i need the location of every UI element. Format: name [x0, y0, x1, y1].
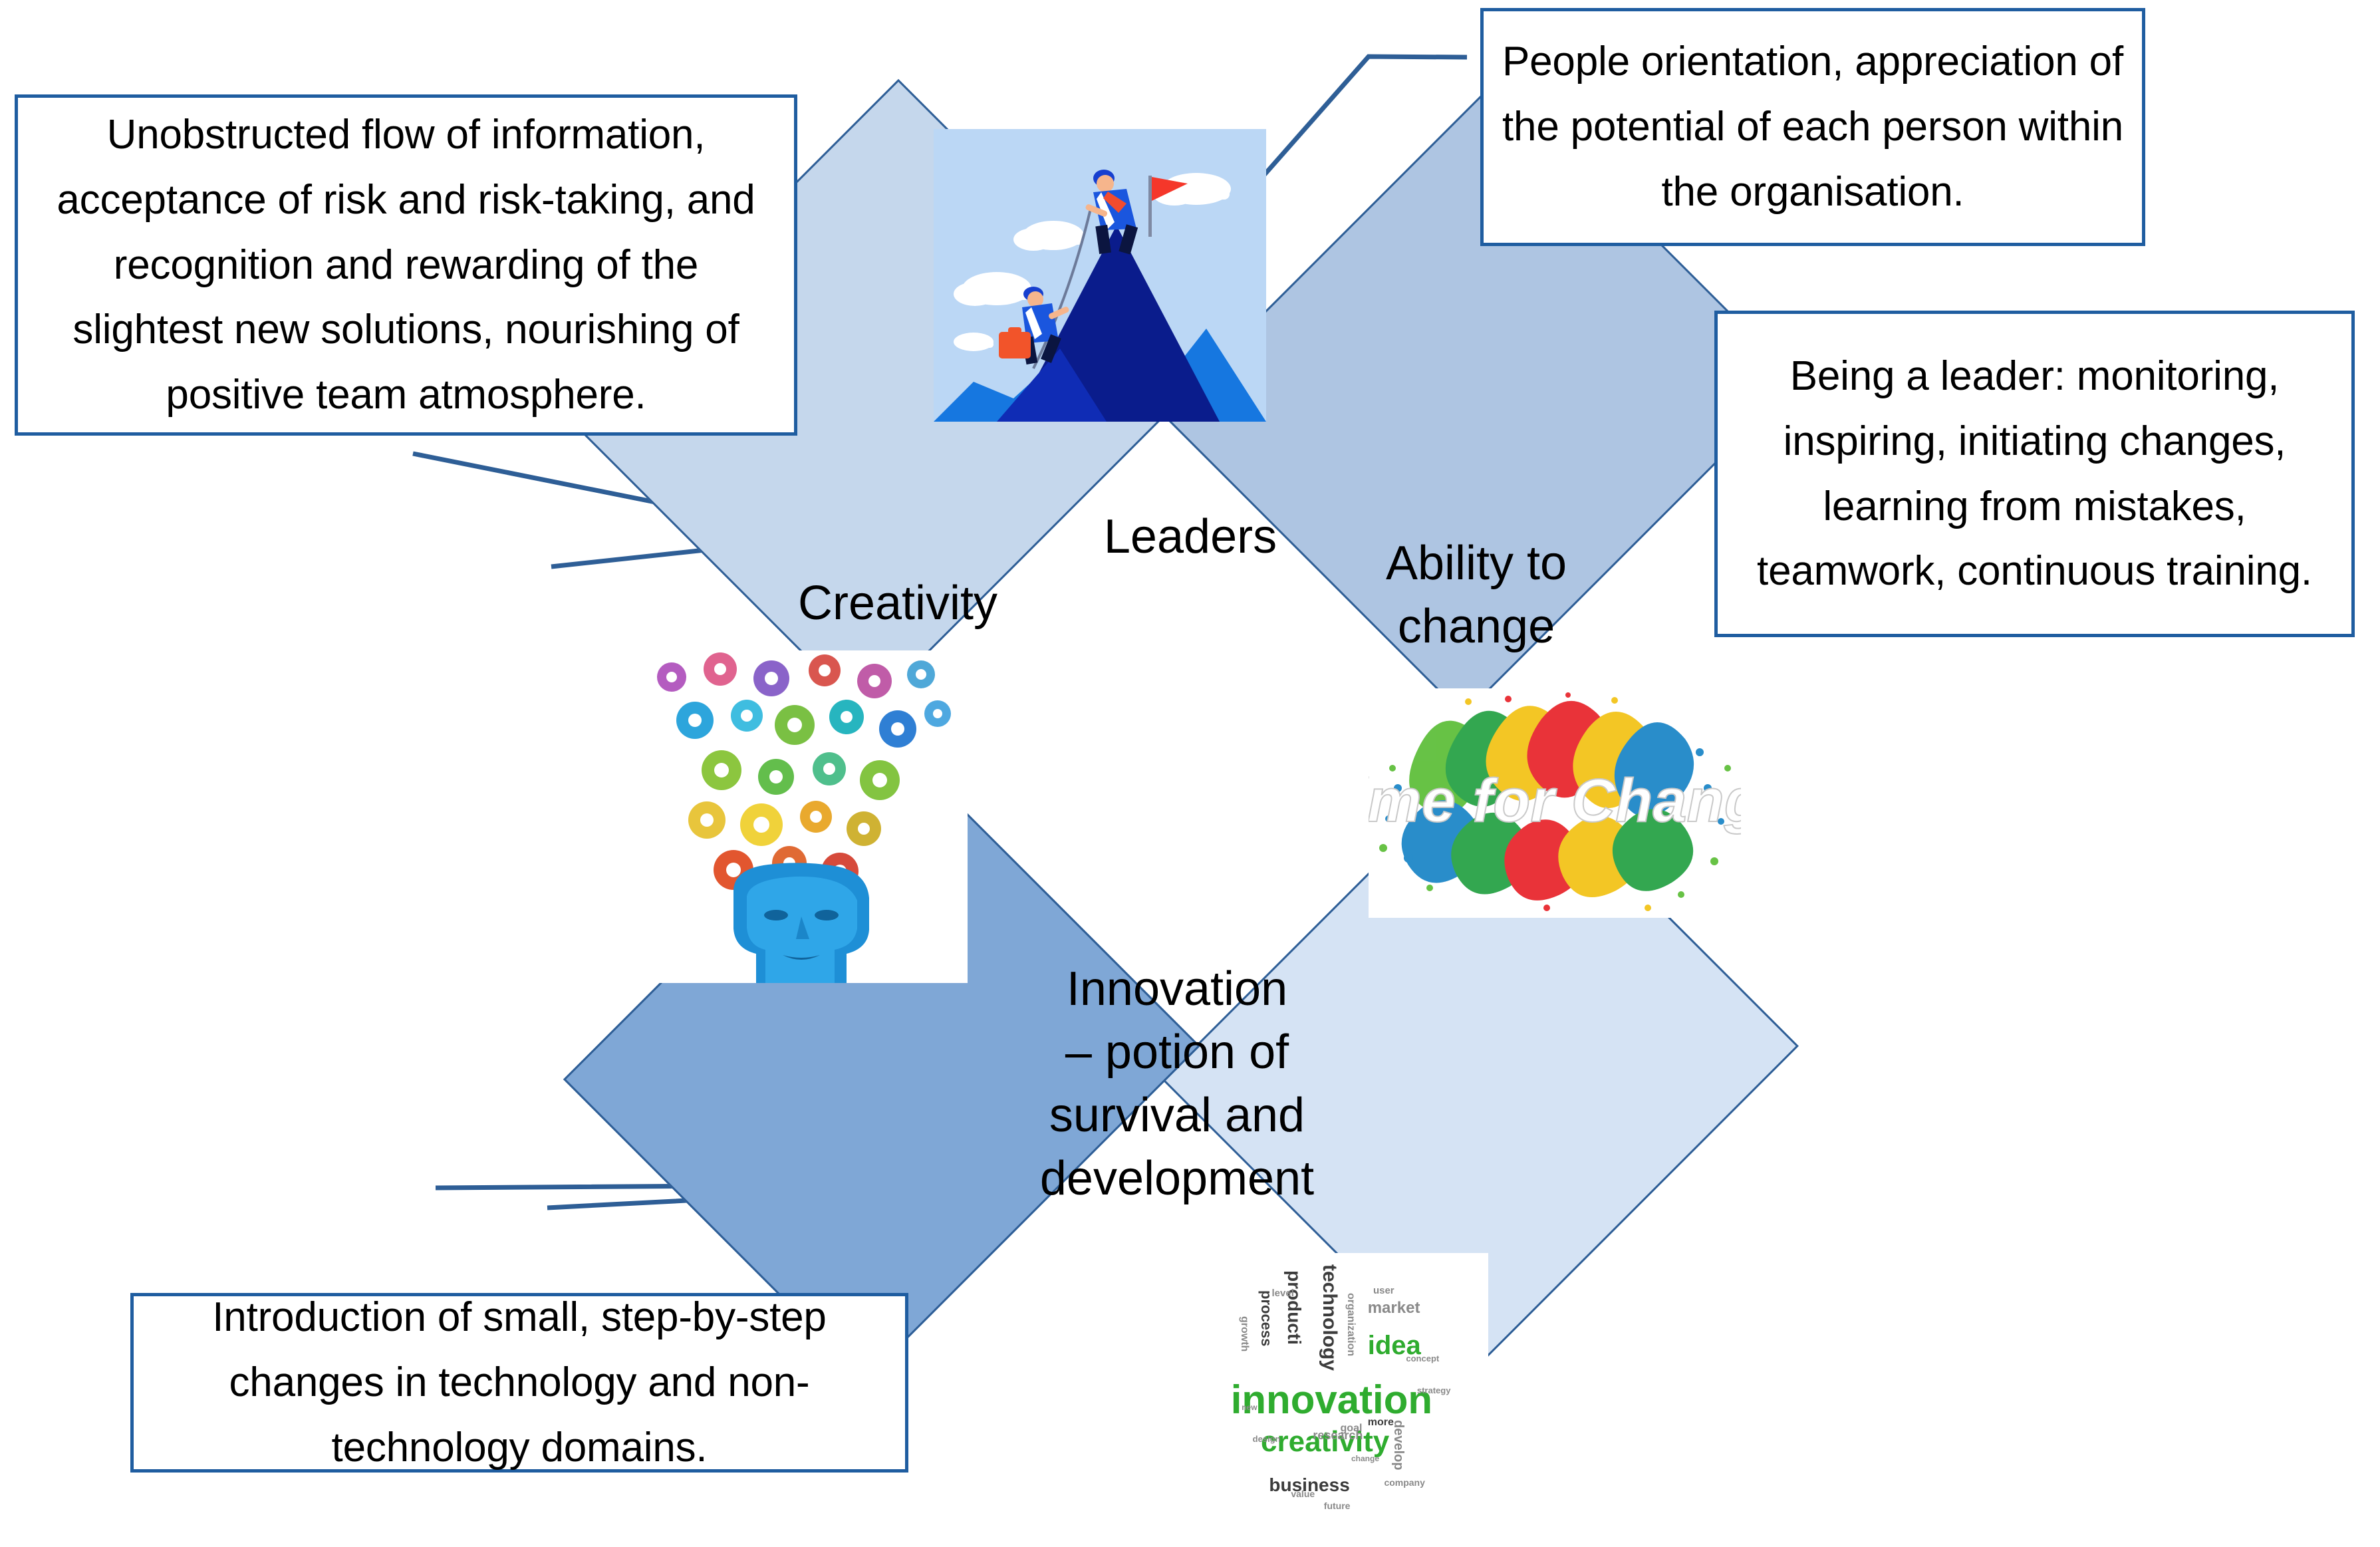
wordcloud-word-new: new: [1242, 1403, 1257, 1412]
wordcloud-word-company: company: [1384, 1477, 1424, 1488]
time-for-change-illustration: Time for Change: [1369, 688, 1741, 918]
time-for-change-caption: Time for Change: [1369, 767, 1741, 835]
wordcloud-word-change: change: [1351, 1454, 1379, 1463]
callout-being-a-leader[interactable]: Being a leader: monitoring, inspiring, i…: [1714, 311, 2355, 637]
brain-gears-illustration: [635, 650, 968, 983]
wordcloud-word-technology: technology: [1318, 1264, 1341, 1371]
wordcloud-word-future: future: [1324, 1500, 1351, 1511]
wordcloud-word-user: user: [1373, 1285, 1394, 1296]
wordcloud-word-growth: growth: [1238, 1316, 1250, 1351]
wordcloud-word-value: value: [1291, 1488, 1315, 1499]
callout-unobstructed-flow[interactable]: Unobstructed flow of information, accept…: [15, 94, 797, 436]
callout-being-a-leader-text: Being a leader: monitoring, inspiring, i…: [1718, 344, 2351, 605]
wordcloud-word-more: more: [1368, 1417, 1394, 1429]
callout-people-orientation-text: People orientation, appreciation of the …: [1484, 29, 2142, 225]
wordcloud-word-concept: concept: [1406, 1353, 1439, 1363]
callout-unobstructed-flow-text: Unobstructed flow of information, accept…: [18, 102, 794, 428]
innovation-word-cloud: innovation creativity idea technology pr…: [1214, 1253, 1488, 1540]
wordcloud-word-product: producti: [1283, 1270, 1305, 1345]
wordcloud-word-goal: goal: [1341, 1423, 1363, 1435]
wordcloud-word-design: design: [1253, 1434, 1281, 1444]
callout-step-by-step[interactable]: Introduction of small, step-by-step chan…: [130, 1293, 908, 1473]
wordcloud-word-level: level: [1272, 1288, 1294, 1299]
wordcloud-word-organization: organization: [1345, 1293, 1357, 1356]
diagram-canvas: Creativity Leaders Ability to change Inn…: [0, 0, 2380, 1547]
wordcloud-word-market: market: [1368, 1299, 1420, 1318]
callout-people-orientation[interactable]: People orientation, appreciation of the …: [1480, 8, 2145, 246]
callout-step-by-step-text: Introduction of small, step-by-step chan…: [134, 1285, 905, 1480]
wordcloud-word-innovation: innovation: [1231, 1377, 1432, 1423]
wordcloud-word-strategy: strategy: [1417, 1385, 1451, 1395]
mountain-climbers-illustration: [934, 129, 1266, 422]
